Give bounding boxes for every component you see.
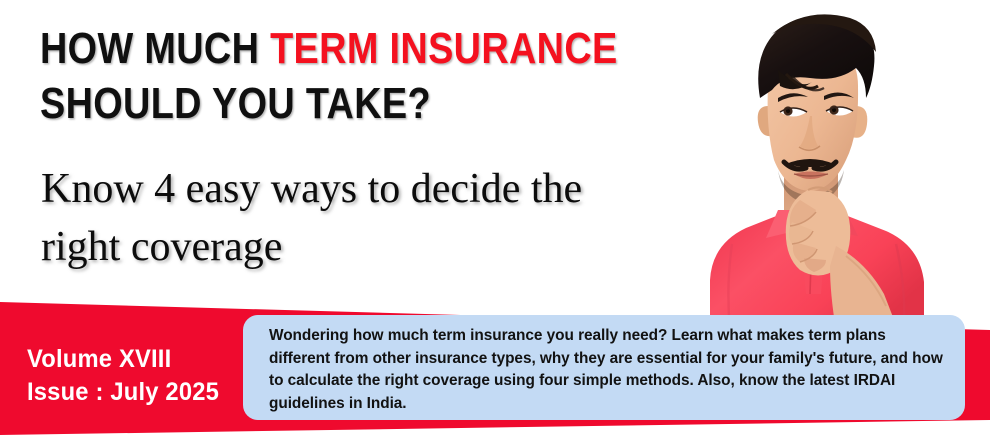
subheadline-line-1: Know 4 easy ways to decide the	[41, 160, 701, 218]
subheadline-line-2: right coverage	[41, 218, 701, 276]
thinking-man-photo	[660, 0, 990, 330]
headline-line-2: SHOULD YOU TAKE?	[40, 76, 590, 131]
headline-red-part: TERM INSURANCE	[270, 24, 617, 73]
headline: HOW MUCH TERM INSURANCE SHOULD YOU TAKE?	[40, 21, 680, 131]
description-box: Wondering how much term insurance you re…	[243, 315, 965, 420]
description-text: Wondering how much term insurance you re…	[269, 325, 947, 415]
issue-label: Issue : July 2025	[27, 376, 219, 409]
headline-line-1: HOW MUCH TERM INSURANCE	[40, 21, 590, 76]
volume-issue-block: Volume XVIII Issue : July 2025	[27, 343, 219, 409]
volume-label: Volume XVIII	[27, 343, 219, 376]
headline-black-part: HOW MUCH	[40, 24, 270, 73]
subheadline: Know 4 easy ways to decide the right cov…	[41, 160, 701, 276]
newsletter-banner: HOW MUCH TERM INSURANCE SHOULD YOU TAKE?…	[0, 0, 990, 435]
